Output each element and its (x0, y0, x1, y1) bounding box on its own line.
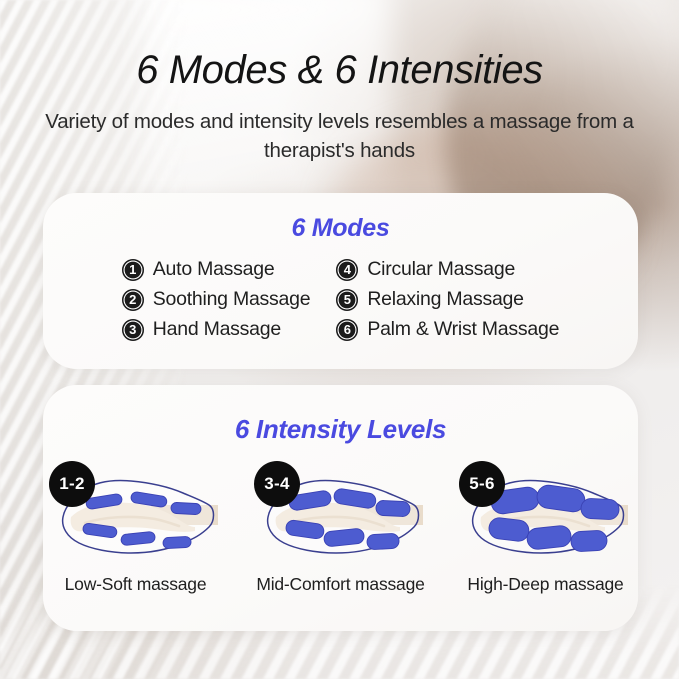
mode-number-badge: 4 (336, 259, 358, 281)
header: 6 Modes & 6 Intensities Variety of modes… (0, 48, 679, 165)
mode-label: Auto Massage (153, 258, 275, 281)
hand-illustration-mid: 3-4 (248, 459, 433, 567)
mode-number-badge: 2 (122, 289, 144, 311)
modes-card-title: 6 Modes (43, 214, 638, 243)
list-item[interactable]: 1 Auto Massage (122, 258, 311, 281)
intensity-card: 6 Intensity Levels (43, 385, 638, 631)
list-item[interactable]: 3 Hand Massage (122, 318, 311, 341)
intensity-caption: Mid-Comfort massage (256, 574, 424, 595)
mode-number-badge: 5 (336, 289, 358, 311)
mode-label: Circular Massage (367, 258, 515, 281)
mode-number-badge: 6 (336, 319, 358, 341)
list-item[interactable]: 6 Palm & Wrist Massage (336, 318, 559, 341)
hand-illustration-high: 5-6 (453, 459, 638, 567)
list-item[interactable]: 5 Relaxing Massage (336, 288, 559, 311)
modes-card: 6 Modes 1 Auto Massage 2 Soothing Massag… (43, 193, 638, 369)
mode-label: Relaxing Massage (367, 288, 523, 311)
intensity-card-title: 6 Intensity Levels (43, 414, 638, 445)
mode-label: Palm & Wrist Massage (367, 318, 559, 341)
list-item[interactable]: 4 Circular Massage (336, 258, 559, 281)
modes-column-left: 1 Auto Massage 2 Soothing Massage 3 Hand… (122, 258, 311, 341)
intensity-caption: Low-Soft massage (65, 574, 207, 595)
intensity-caption: High-Deep massage (467, 574, 623, 595)
intensity-level-1[interactable]: 1-2 Low-Soft massage (43, 459, 228, 595)
intensity-level-3[interactable]: 5-6 High-Deep massage (453, 459, 638, 595)
mode-number-badge: 3 (122, 319, 144, 341)
mode-label: Hand Massage (153, 318, 281, 341)
hand-illustration-low: 1-2 (43, 459, 228, 567)
page-title: 6 Modes & 6 Intensities (0, 48, 679, 93)
mode-label: Soothing Massage (153, 288, 311, 311)
modes-grid: 1 Auto Massage 2 Soothing Massage 3 Hand… (43, 258, 638, 341)
intensity-level-2[interactable]: 3-4 Mid-Comfort massage (248, 459, 433, 595)
page-subtitle: Variety of modes and intensity levels re… (40, 107, 640, 165)
intensity-row: 1-2 Low-Soft massage (43, 459, 638, 595)
list-item[interactable]: 2 Soothing Massage (122, 288, 311, 311)
modes-column-right: 4 Circular Massage 5 Relaxing Massage 6 … (336, 258, 559, 341)
infographic-poster: 6 Modes & 6 Intensities Variety of modes… (0, 0, 679, 679)
status-badge: 1-2 (49, 461, 95, 507)
status-badge: 3-4 (254, 461, 300, 507)
mode-number-badge: 1 (122, 259, 144, 281)
status-badge: 5-6 (459, 461, 505, 507)
